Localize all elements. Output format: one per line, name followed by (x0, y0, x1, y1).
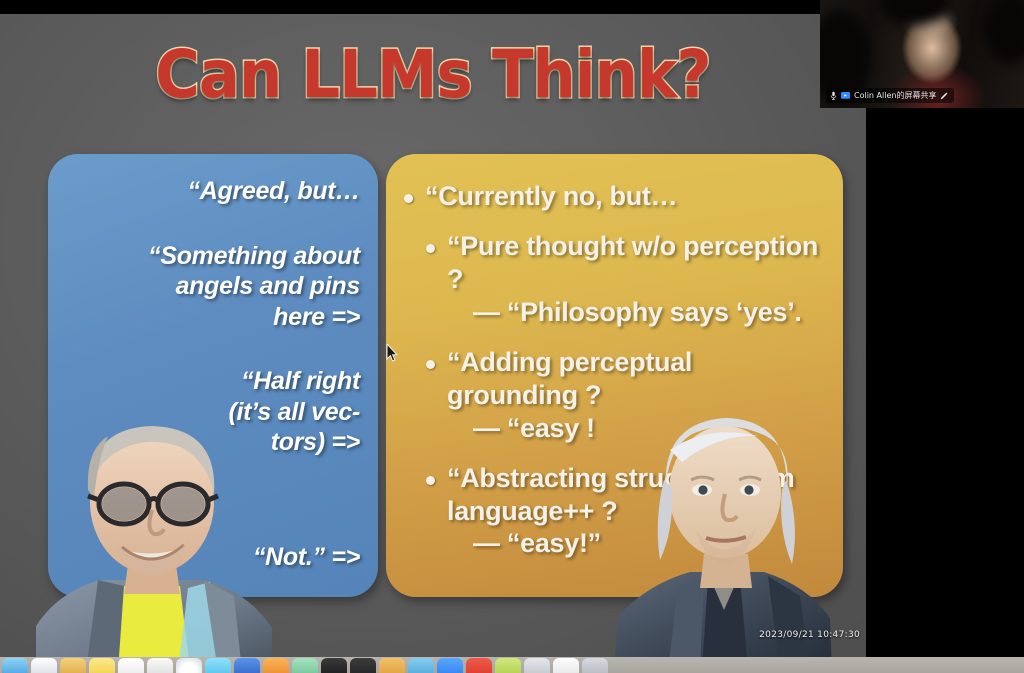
dock-icon-app-white[interactable] (553, 658, 579, 673)
microphone-icon[interactable] (830, 91, 837, 100)
dock-icon-finder[interactable] (2, 658, 28, 673)
dock-icon-preview[interactable] (60, 658, 86, 673)
dock-icon-app-sky[interactable] (408, 658, 434, 673)
webcam-participant-label: Colin Allen的屏幕共享 (826, 88, 954, 103)
dock-icon-terminal[interactable] (321, 658, 347, 673)
bullet-text: “Adding perceptual grounding ? (447, 347, 692, 410)
left-line-2b: angels and pins (62, 271, 360, 302)
dock-icon-app-indigo[interactable] (234, 658, 260, 673)
right-portrait-photo (608, 410, 838, 658)
mouse-cursor-icon (386, 344, 398, 362)
shared-screen-area: Can LLMs Think? “Agreed, but… “Something… (0, 14, 866, 658)
list-item: “Pure thought w/o perception ? — “Philos… (426, 230, 829, 329)
recording-timestamp: 2023/09/21 10:47:30 (759, 630, 860, 640)
dock-icon-keynote[interactable] (147, 658, 173, 673)
bullet-text: “Pure thought w/o perception ? (447, 231, 818, 294)
bullet-dot-icon (426, 244, 435, 253)
dock-icon-app-mint[interactable] (292, 658, 318, 673)
page-title: Can LLMs Think? (35, 42, 832, 108)
list-item: “Currently no, but… (404, 180, 829, 213)
dock-icon-zoom[interactable] (437, 658, 463, 673)
dock-icon-app-dark[interactable] (350, 658, 376, 673)
left-portrait-photo (28, 414, 278, 658)
bullet-dot-icon (426, 360, 435, 369)
dock-icon-app-lime[interactable] (495, 658, 521, 673)
dock-icon-app-orange[interactable] (263, 658, 289, 673)
dock-icon-app-silver[interactable] (524, 658, 550, 673)
screen-share-icon[interactable] (841, 92, 850, 100)
dock-icon-app-red[interactable] (466, 658, 492, 673)
pencil-icon[interactable] (940, 92, 948, 100)
bullet-dot-icon (404, 194, 413, 203)
dock-icon-safari[interactable] (176, 658, 202, 673)
bullet-dot-icon (426, 476, 435, 485)
webcam-tile[interactable]: Colin Allen的屏幕共享 (820, 0, 1024, 108)
bullet-text: “Currently no, but… (425, 181, 677, 211)
webcam-label-text: Colin Allen的屏幕共享 (854, 90, 936, 101)
dock-icon-pages[interactable] (118, 658, 144, 673)
dock-icon-launchpad[interactable] (31, 658, 57, 673)
screen-capture: Can LLMs Think? “Agreed, but… “Something… (0, 0, 1024, 673)
dock-icon-trash[interactable] (582, 658, 608, 673)
dock-icon-app-blue[interactable] (205, 658, 231, 673)
left-line-2c: here => (62, 302, 360, 333)
dock-icon-app-amber[interactable] (379, 658, 405, 673)
left-line-2a: “Something about (62, 241, 360, 272)
left-line-1: “Agreed, but… (62, 176, 360, 207)
bullet-subtext: — “Philosophy says ‘yes’. (447, 296, 829, 329)
dock-icon-notes[interactable] (89, 658, 115, 673)
macos-dock[interactable] (0, 657, 1024, 673)
left-line-3a: “Half right (62, 366, 360, 397)
